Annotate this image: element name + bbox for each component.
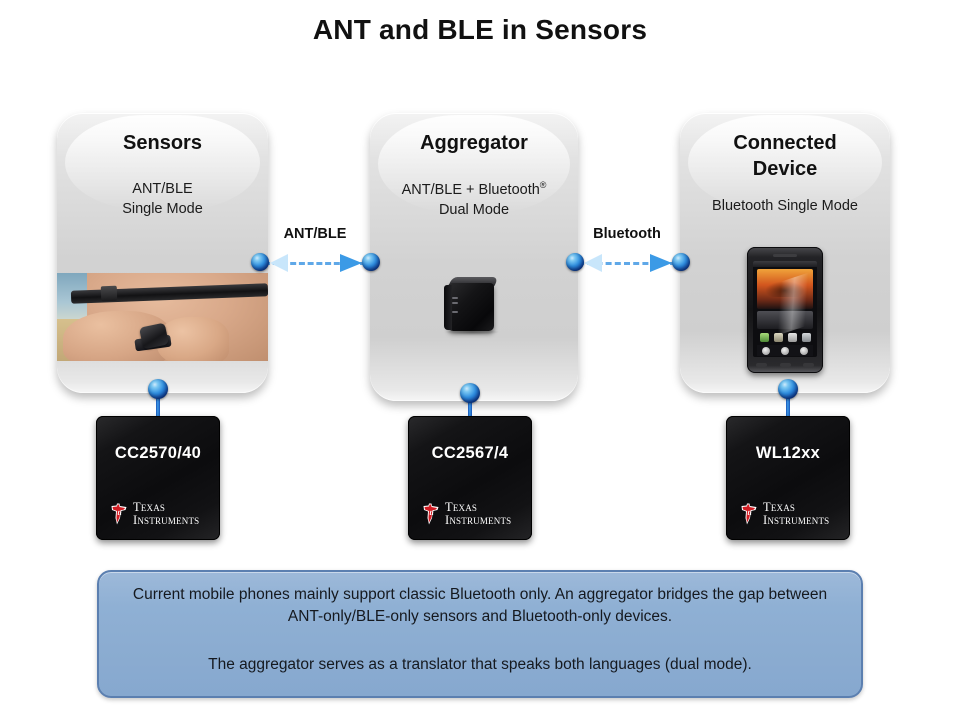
chip-cc2567-4[interactable]: CC2567/4 ti Texas Instruments [408,416,532,540]
panel-aggregator[interactable]: Aggregator ANT/BLE + Bluetooth® Dual Mod… [370,113,578,401]
ti-wordmark: Texas Instruments [763,501,829,526]
endpoint-sphere-connected-left[interactable] [672,253,690,271]
panel-aggregator-subtitle-line1: ANT/BLE + Bluetooth® [370,179,578,200]
texas-instruments-logo: ti Texas Instruments [110,501,199,526]
ti-word-texas: Texas [445,501,511,514]
panel-aggregator-subtitle-line2: Dual Mode [370,200,578,221]
panel-connected-device-title-line1: Connected [680,131,890,157]
ti-word-instruments: Instruments [133,514,199,527]
panel-sensors-subtitle-line1: ANT/BLE [57,179,268,200]
connector-label-bluetooth: Bluetooth [593,226,661,242]
texas-instruments-logo: ti Texas Instruments [422,501,511,526]
panel-connected-device-title: Connected Device [680,131,890,182]
aggregator-hub-device [444,275,498,331]
callout-paragraph-1: Current mobile phones mainly support cla… [125,584,835,628]
arrow-left-icon [270,254,288,272]
endpoint-sphere-aggregator-right[interactable] [566,253,584,271]
texas-instruments-logo: ti Texas Instruments [740,501,829,526]
ti-texas-mark-icon: ti [740,503,758,525]
endpoint-sphere-aggregator-left[interactable] [362,253,380,271]
chip-wl12xx[interactable]: WL12xx ti Texas Instruments [726,416,850,540]
panel-connected-device[interactable]: Connected Device Bluetooth Single Mode [680,113,890,393]
panel-connected-device-title-line2: Device [680,157,890,183]
chip-cc2570-40[interactable]: CC2570/40 ti Texas Instruments [96,416,220,540]
ti-word-instruments: Instruments [763,514,829,527]
sphere-aggregator-bottom[interactable] [460,383,480,403]
ti-wordmark: Texas Instruments [133,501,199,526]
connector-sensors-to-aggregator: ANT/BLE [252,252,378,274]
chip-wl12xx-label: WL12xx [726,444,850,463]
sphere-connected-bottom[interactable] [778,379,798,399]
page-title: ANT and BLE in Sensors [0,14,960,46]
chip-cc2570-40-label: CC2570/40 [96,444,220,463]
ti-word-instruments: Instruments [445,514,511,527]
panel-sensors-title: Sensors [57,131,268,157]
heart-rate-chest-strap-photo [57,273,268,361]
panel-sensors-subtitle: ANT/BLE Single Mode [57,179,268,220]
ti-word-texas: Texas [133,501,199,514]
ti-texas-mark-icon: ti [110,503,128,525]
chip-cc2567-4-label: CC2567/4 [408,444,532,463]
panel-aggregator-title: Aggregator [370,131,578,157]
callout-box: Current mobile phones mainly support cla… [97,570,863,698]
arrow-left-icon [584,254,602,272]
panel-sensors[interactable]: Sensors ANT/BLE Single Mode [57,113,268,393]
smartphone-image [747,247,823,373]
endpoint-sphere-sensors-right[interactable] [251,253,269,271]
ti-texas-mark-icon: ti [422,503,440,525]
callout-paragraph-2: The aggregator serves as a translator th… [125,654,835,676]
panel-aggregator-subtitle: ANT/BLE + Bluetooth® Dual Mode [370,179,578,221]
arrow-right-icon [340,254,362,272]
ti-word-texas: Texas [763,501,829,514]
connector-aggregator-to-connected: Bluetooth [566,252,688,274]
ti-wordmark: Texas Instruments [445,501,511,526]
panel-sensors-subtitle-line2: Single Mode [57,199,268,220]
registered-mark: ® [540,180,547,190]
connector-label-ant-ble: ANT/BLE [284,226,347,242]
sphere-sensors-bottom[interactable] [148,379,168,399]
panel-connected-device-subtitle: Bluetooth Single Mode [680,196,890,217]
arrow-right-icon [650,254,672,272]
